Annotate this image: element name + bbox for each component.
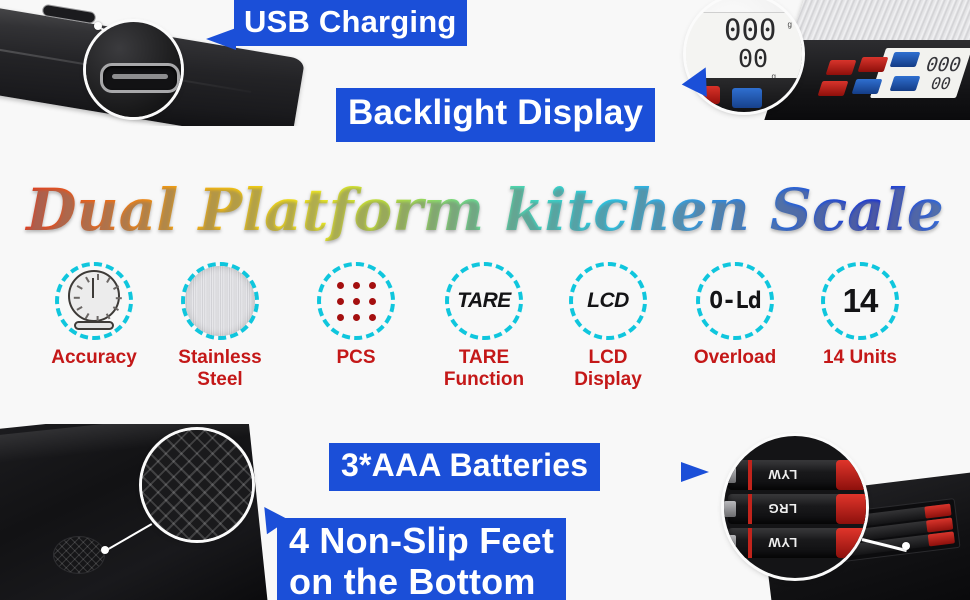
magnified-tare-button[interactable]	[732, 88, 762, 108]
non-slip-foot-magnifier	[142, 430, 252, 540]
callout-aaa-batteries: 3*AAA Batteries	[329, 443, 600, 491]
feature-stainless-steel: Stainless Steel	[160, 262, 280, 391]
dashed-ring	[181, 262, 259, 340]
dashed-ring	[55, 262, 133, 340]
battery-compartment-photo: LYW LRG LYW	[646, 432, 970, 600]
battery-band	[748, 460, 752, 490]
scale-button-mode[interactable]	[858, 57, 889, 72]
non-slip-foot-photo	[0, 424, 292, 600]
feature-lcd: LCD LCD Display	[548, 262, 668, 391]
magnifier-anchor-dot	[94, 22, 102, 30]
feature-label: PCS	[296, 347, 416, 369]
scale-display-primary: 000	[923, 54, 964, 76]
usb-port-magnifier	[86, 22, 181, 117]
feature-units: 14 14 Units	[800, 262, 920, 369]
scale-display-photo: 000 00 000 00 g g	[674, 0, 970, 120]
battery-brand-label: LYW	[768, 467, 797, 482]
feature-icon-row: Accuracy Stainless Steel PCS TARE TARE F…	[0, 262, 970, 412]
feature-pcs: PCS	[296, 262, 416, 369]
dual-platform-scale-unit: 000 00	[780, 0, 970, 120]
battery-positive-cap	[836, 528, 866, 558]
dashed-ring: TARE	[445, 262, 523, 340]
battery-positive-cap	[836, 494, 866, 524]
battery-band	[748, 494, 752, 524]
scale-button-unit[interactable]	[890, 52, 921, 67]
scale-button-on-off[interactable]	[826, 60, 857, 75]
non-slip-foot	[53, 536, 105, 574]
feature-tare: TARE TARE Function	[424, 262, 544, 391]
aaa-battery: LYW	[728, 528, 866, 558]
callout-non-slip-feet: 4 Non-Slip Feet on the Bottom	[277, 518, 566, 600]
battery-negative-terminal	[724, 501, 736, 517]
aaa-battery: LRG	[728, 494, 866, 524]
scale-lcd-window: 000 00	[870, 48, 970, 98]
dashed-ring: O-Ld	[696, 262, 774, 340]
dashed-ring: LCD	[569, 262, 647, 340]
lcd-text-icon: LCD	[587, 289, 629, 313]
feature-label: Stainless Steel	[160, 347, 280, 391]
callout-backlight-display: Backlight Display	[336, 88, 655, 142]
magnifier-anchor-dot	[101, 546, 109, 554]
infographic-canvas: 000 00 000 00 g g USB Charging Backlight…	[0, 0, 970, 600]
scale-display-secondary: 00	[928, 74, 953, 93]
lcd-unit-top: g	[788, 20, 792, 29]
units-count-icon: 14	[843, 282, 878, 320]
scale-button-tare[interactable]	[818, 81, 849, 96]
lcd-reading-secondary: 00	[738, 46, 768, 71]
tare-text-icon: TARE	[457, 289, 511, 313]
feature-label: Overload	[675, 347, 795, 369]
battery-negative-terminal	[724, 535, 736, 551]
gauge-stand	[74, 321, 114, 330]
page-title-text: Dual Platform kitchen Scale	[20, 176, 950, 244]
dashed-ring: 14	[821, 262, 899, 340]
batteries-callout-tail	[681, 462, 709, 482]
dot-grid-icon	[337, 282, 376, 321]
scale-button-zero[interactable]	[890, 76, 921, 91]
callout-usb-charging: USB Charging	[234, 0, 467, 46]
steel-disc-icon	[185, 266, 255, 336]
feature-accuracy: Accuracy	[34, 262, 154, 369]
feature-label: LCD Display	[548, 347, 668, 391]
overload-code-icon: O-Ld	[709, 288, 760, 314]
battery-brand-label: LYW	[768, 535, 797, 550]
waffle-texture-icon	[142, 430, 252, 540]
battery-brand-label: LRG	[768, 501, 797, 516]
gauge-dial	[68, 270, 120, 322]
usb-c-connector-icon	[100, 63, 180, 93]
dashed-ring	[317, 262, 395, 340]
scale-button-pcs[interactable]	[852, 79, 883, 94]
battery-negative-terminal	[724, 467, 736, 483]
feature-label: Accuracy	[34, 347, 154, 369]
feature-overload: O-Ld Overload	[675, 262, 795, 369]
aaa-battery: LYW	[728, 460, 866, 490]
gauge-icon	[66, 270, 122, 332]
battery-positive-cap	[836, 460, 866, 490]
magnifier-anchor-dot	[902, 542, 910, 550]
feature-label: 14 Units	[800, 347, 920, 369]
usb-callout-tail	[206, 28, 236, 50]
battery-magnifier: LYW LRG LYW	[724, 436, 866, 578]
lcd-reading-primary: 000	[724, 16, 776, 45]
feature-label: TARE Function	[424, 347, 544, 391]
gauge-needle	[92, 278, 94, 298]
battery-band	[748, 528, 752, 558]
page-title: Dual Platform kitchen Scale	[0, 172, 970, 248]
